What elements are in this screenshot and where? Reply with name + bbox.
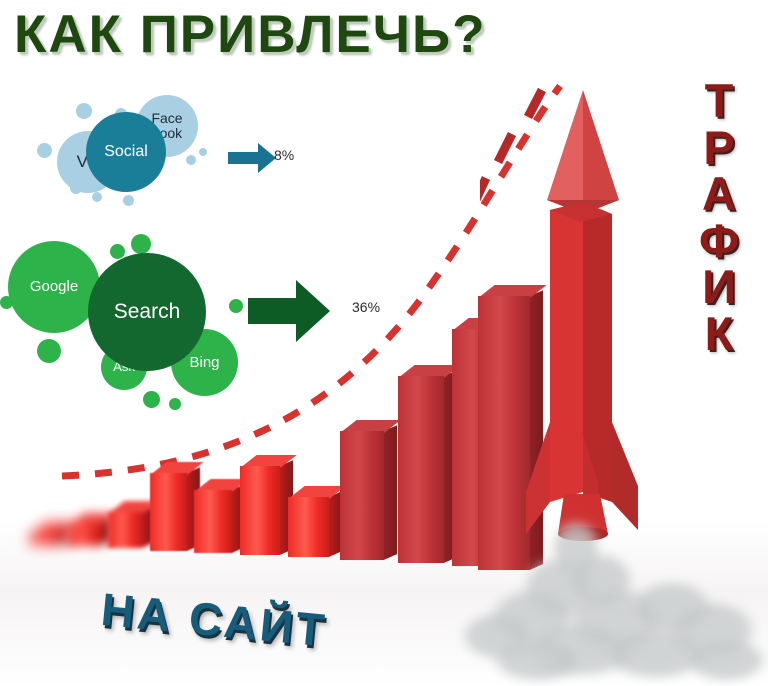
social-dot-1	[37, 143, 52, 158]
bar-side	[384, 425, 397, 560]
social-dot-6	[123, 195, 134, 206]
bubble-social-label: Social	[104, 144, 148, 161]
bar-front	[68, 524, 100, 546]
bar-front	[240, 466, 280, 555]
bubble-google-label: Google	[30, 279, 78, 295]
bar-4	[150, 473, 187, 551]
bubble-search-label: Search	[114, 301, 181, 323]
bar-2	[68, 524, 100, 546]
bar-front	[194, 490, 232, 553]
bar-1	[30, 533, 60, 545]
search-dot-1	[110, 244, 125, 259]
bar-5	[194, 490, 232, 553]
spark-dashes	[480, 82, 590, 222]
bubble-google[interactable]: Google	[8, 241, 100, 333]
traffic-letter-2: А	[702, 171, 736, 218]
bubble-bing-label: Bing	[189, 355, 219, 371]
search-dot-4	[143, 391, 160, 408]
traffic-letter-0: Т	[705, 78, 734, 125]
social-dot-7	[186, 155, 196, 165]
rocket-body	[550, 202, 583, 502]
social-dot-2	[76, 103, 92, 119]
bar-front	[150, 473, 187, 551]
traffic-letter-4: И	[702, 264, 736, 311]
page-title: КАК ПРИВЛЕЧЬ?	[14, 4, 486, 65]
search-arrow	[248, 280, 330, 342]
bubble-social[interactable]: Social	[86, 112, 166, 192]
bar-front	[30, 533, 60, 545]
search-dot-5	[169, 398, 181, 410]
bubble-search[interactable]: Search	[88, 253, 206, 371]
social-percent: 8%	[274, 147, 294, 163]
search-percent: 36%	[352, 299, 380, 315]
traffic-letter-1: Р	[703, 125, 734, 172]
social-arrow	[228, 143, 276, 173]
bar-front	[288, 497, 329, 557]
bar-front	[340, 431, 384, 560]
traffic-letter-3: Ф	[699, 218, 739, 265]
traffic-letter-5: К	[705, 311, 734, 358]
infographic-canvas: КАК ПРИВЛЕЧЬ? VK Facebook Social 8%	[0, 0, 768, 686]
search-dot-3	[37, 339, 61, 363]
search-dot-6	[229, 299, 243, 313]
search-dot-2	[131, 234, 151, 254]
bar-front	[108, 512, 142, 548]
bar-8	[340, 431, 384, 560]
bar-7	[288, 497, 329, 557]
smoke-plume	[420, 508, 768, 686]
vertical-traffic-label: ТРАФИК	[680, 78, 758, 357]
social-dot-5	[92, 192, 102, 202]
social-dot-8	[199, 148, 207, 156]
bar-3	[108, 512, 142, 548]
bar-6	[240, 466, 280, 555]
